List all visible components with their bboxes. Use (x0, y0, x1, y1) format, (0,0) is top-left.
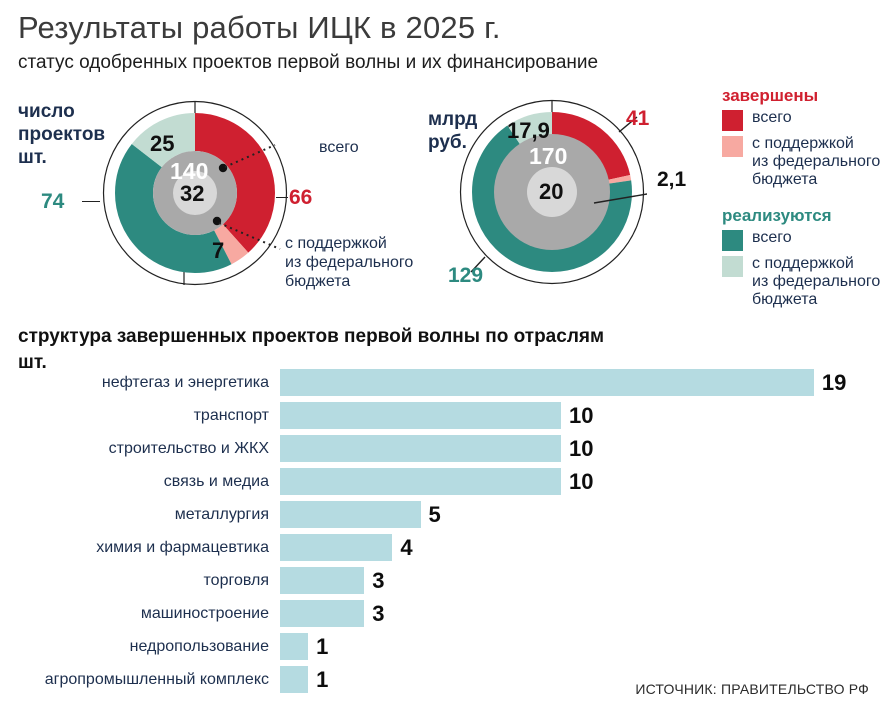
bar-value-label: 5 (429, 502, 441, 528)
bar-fill (280, 501, 421, 528)
bar-fill (280, 435, 561, 462)
donut-1-label-ongoing-federal: 25 (150, 131, 174, 157)
donut-1-label-ongoing-total: 74 (41, 190, 64, 214)
legend-label-ongoing-total: всего (752, 229, 792, 247)
bar-row: химия и фармацевтика4 (0, 532, 885, 563)
legend-item-completed-total: всего (722, 109, 885, 131)
bar-value-label: 1 (316, 667, 328, 693)
legend-item-ongoing-total: всего (722, 229, 885, 251)
bar-row: строительство и ЖКХ10 (0, 433, 885, 464)
donut-1-leader-tick-completed (276, 197, 288, 198)
bar-value-label: 10 (569, 436, 593, 462)
bar-row: нефтегаз и энергетика19 (0, 367, 885, 398)
callout-federal-line-1: с поддержкой (285, 235, 413, 254)
donut-1-units-line-2: проектов (18, 123, 105, 146)
page-subtitle: статус одобренных проектов первой волны … (18, 52, 598, 74)
bar-value-label: 1 (316, 634, 328, 660)
bar-value-label: 3 (372, 601, 384, 627)
bar-fill (280, 633, 308, 660)
legend-item-ongoing-federal: с поддержкой из федерального бюджета (722, 255, 885, 309)
bar-category-label: связь и медиа (0, 473, 280, 491)
legend-heading-ongoing: реализуются (722, 206, 885, 226)
bar-track: 10 (280, 402, 885, 429)
callout-federal-line-2: из федерального (285, 254, 413, 273)
legend-label-ongoing-federal-line-3: бюджета (752, 291, 880, 309)
bar-category-label: транспорт (0, 407, 280, 425)
source-note: ИСТОЧНИК: ПРАВИТЕЛЬСТВО РФ (635, 681, 869, 697)
bar-track: 4 (280, 534, 885, 561)
bars-section-title: структура завершенных проектов первой во… (18, 326, 604, 348)
donut-2-label-ongoing-total: 129 (448, 264, 483, 288)
donut-1-units-line-1: число (18, 100, 105, 123)
legend-spacer (722, 193, 885, 206)
legend-swatch-ongoing-total (722, 230, 743, 251)
bar-fill (280, 567, 364, 594)
legend: завершены всего с поддержкой из федераль… (722, 86, 885, 312)
donut-2-label-completed-federal: 2,1 (657, 168, 686, 192)
bar-fill (280, 402, 561, 429)
legend-swatch-completed-federal (722, 136, 743, 157)
bar-category-label: нефтегаз и энергетика (0, 374, 280, 392)
callout-total: всего (319, 139, 359, 158)
donut-1-leader-tick-ongoing (82, 201, 100, 202)
legend-label-completed-federal-line-3: бюджета (752, 171, 880, 189)
bar-track: 1 (280, 633, 885, 660)
donut-1-center-inner-value: 32 (180, 181, 204, 207)
bar-row: недропользование1 (0, 631, 885, 662)
donut-2-label-ongoing-federal: 17,9 (507, 118, 550, 144)
legend-label-ongoing-federal: с поддержкой из федерального бюджета (752, 255, 880, 309)
bar-row: торговля3 (0, 565, 885, 596)
bar-track: 10 (280, 435, 885, 462)
bar-row: машиностроение3 (0, 598, 885, 629)
donut-1-leader-dot-total (219, 164, 227, 172)
bar-value-label: 10 (569, 403, 593, 429)
callout-federal: с поддержкой из федерального бюджета (285, 235, 413, 292)
bar-track: 3 (280, 567, 885, 594)
callout-federal-line-3: бюджета (285, 273, 413, 292)
bar-fill (280, 534, 392, 561)
bar-track: 5 (280, 501, 885, 528)
bar-category-label: химия и фармацевтика (0, 539, 280, 557)
legend-swatch-completed-total (722, 110, 743, 131)
bar-value-label: 4 (400, 535, 412, 561)
bar-fill (280, 468, 561, 495)
bar-value-label: 3 (372, 568, 384, 594)
bar-category-label: недропользование (0, 638, 280, 656)
donut-1-label-completed-total: 66 (289, 186, 312, 210)
bar-category-label: строительство и ЖКХ (0, 440, 280, 458)
bar-category-label: торговля (0, 572, 280, 590)
bar-category-label: машиностроение (0, 605, 280, 623)
bar-row: связь и медиа10 (0, 466, 885, 497)
bar-value-label: 10 (569, 469, 593, 495)
bar-fill (280, 369, 814, 396)
bar-track: 3 (280, 600, 885, 627)
legend-label-ongoing-federal-line-1: с поддержкой (752, 255, 880, 273)
legend-swatch-ongoing-federal (722, 256, 743, 277)
legend-label-completed-federal: с поддержкой из федерального бюджета (752, 135, 880, 189)
donut-1-units-line-3: шт. (18, 146, 105, 169)
bar-track: 10 (280, 468, 885, 495)
legend-heading-completed: завершены (722, 86, 885, 106)
page-title: Результаты работы ИЦК в 2025 г. (18, 10, 501, 46)
donut-1-units: число проектов шт. (18, 100, 105, 170)
bar-fill (280, 666, 308, 693)
bar-category-label: металлургия (0, 506, 280, 524)
legend-label-completed-total: всего (752, 109, 792, 127)
legend-label-completed-federal-line-2: из федерального (752, 153, 880, 171)
bar-row: металлургия5 (0, 499, 885, 530)
legend-item-completed-federal: с поддержкой из федерального бюджета (722, 135, 885, 189)
bar-category-label: агропромышленный комплекс (0, 671, 280, 689)
donut-2-label-completed-total: 41 (626, 107, 649, 131)
legend-label-completed-federal-line-1: с поддержкой (752, 135, 880, 153)
donut-2-center-outer-value: 170 (529, 143, 567, 170)
donut-2-center-inner-value: 20 (539, 179, 563, 205)
bar-value-label: 19 (822, 370, 846, 396)
bar-row: транспорт10 (0, 400, 885, 431)
bar-chart: нефтегаз и энергетика19транспорт10строит… (0, 367, 885, 697)
legend-label-ongoing-federal-line-2: из федерального (752, 273, 880, 291)
bar-track: 19 (280, 369, 885, 396)
donut-1-label-completed-federal: 7 (212, 238, 224, 264)
bar-fill (280, 600, 364, 627)
